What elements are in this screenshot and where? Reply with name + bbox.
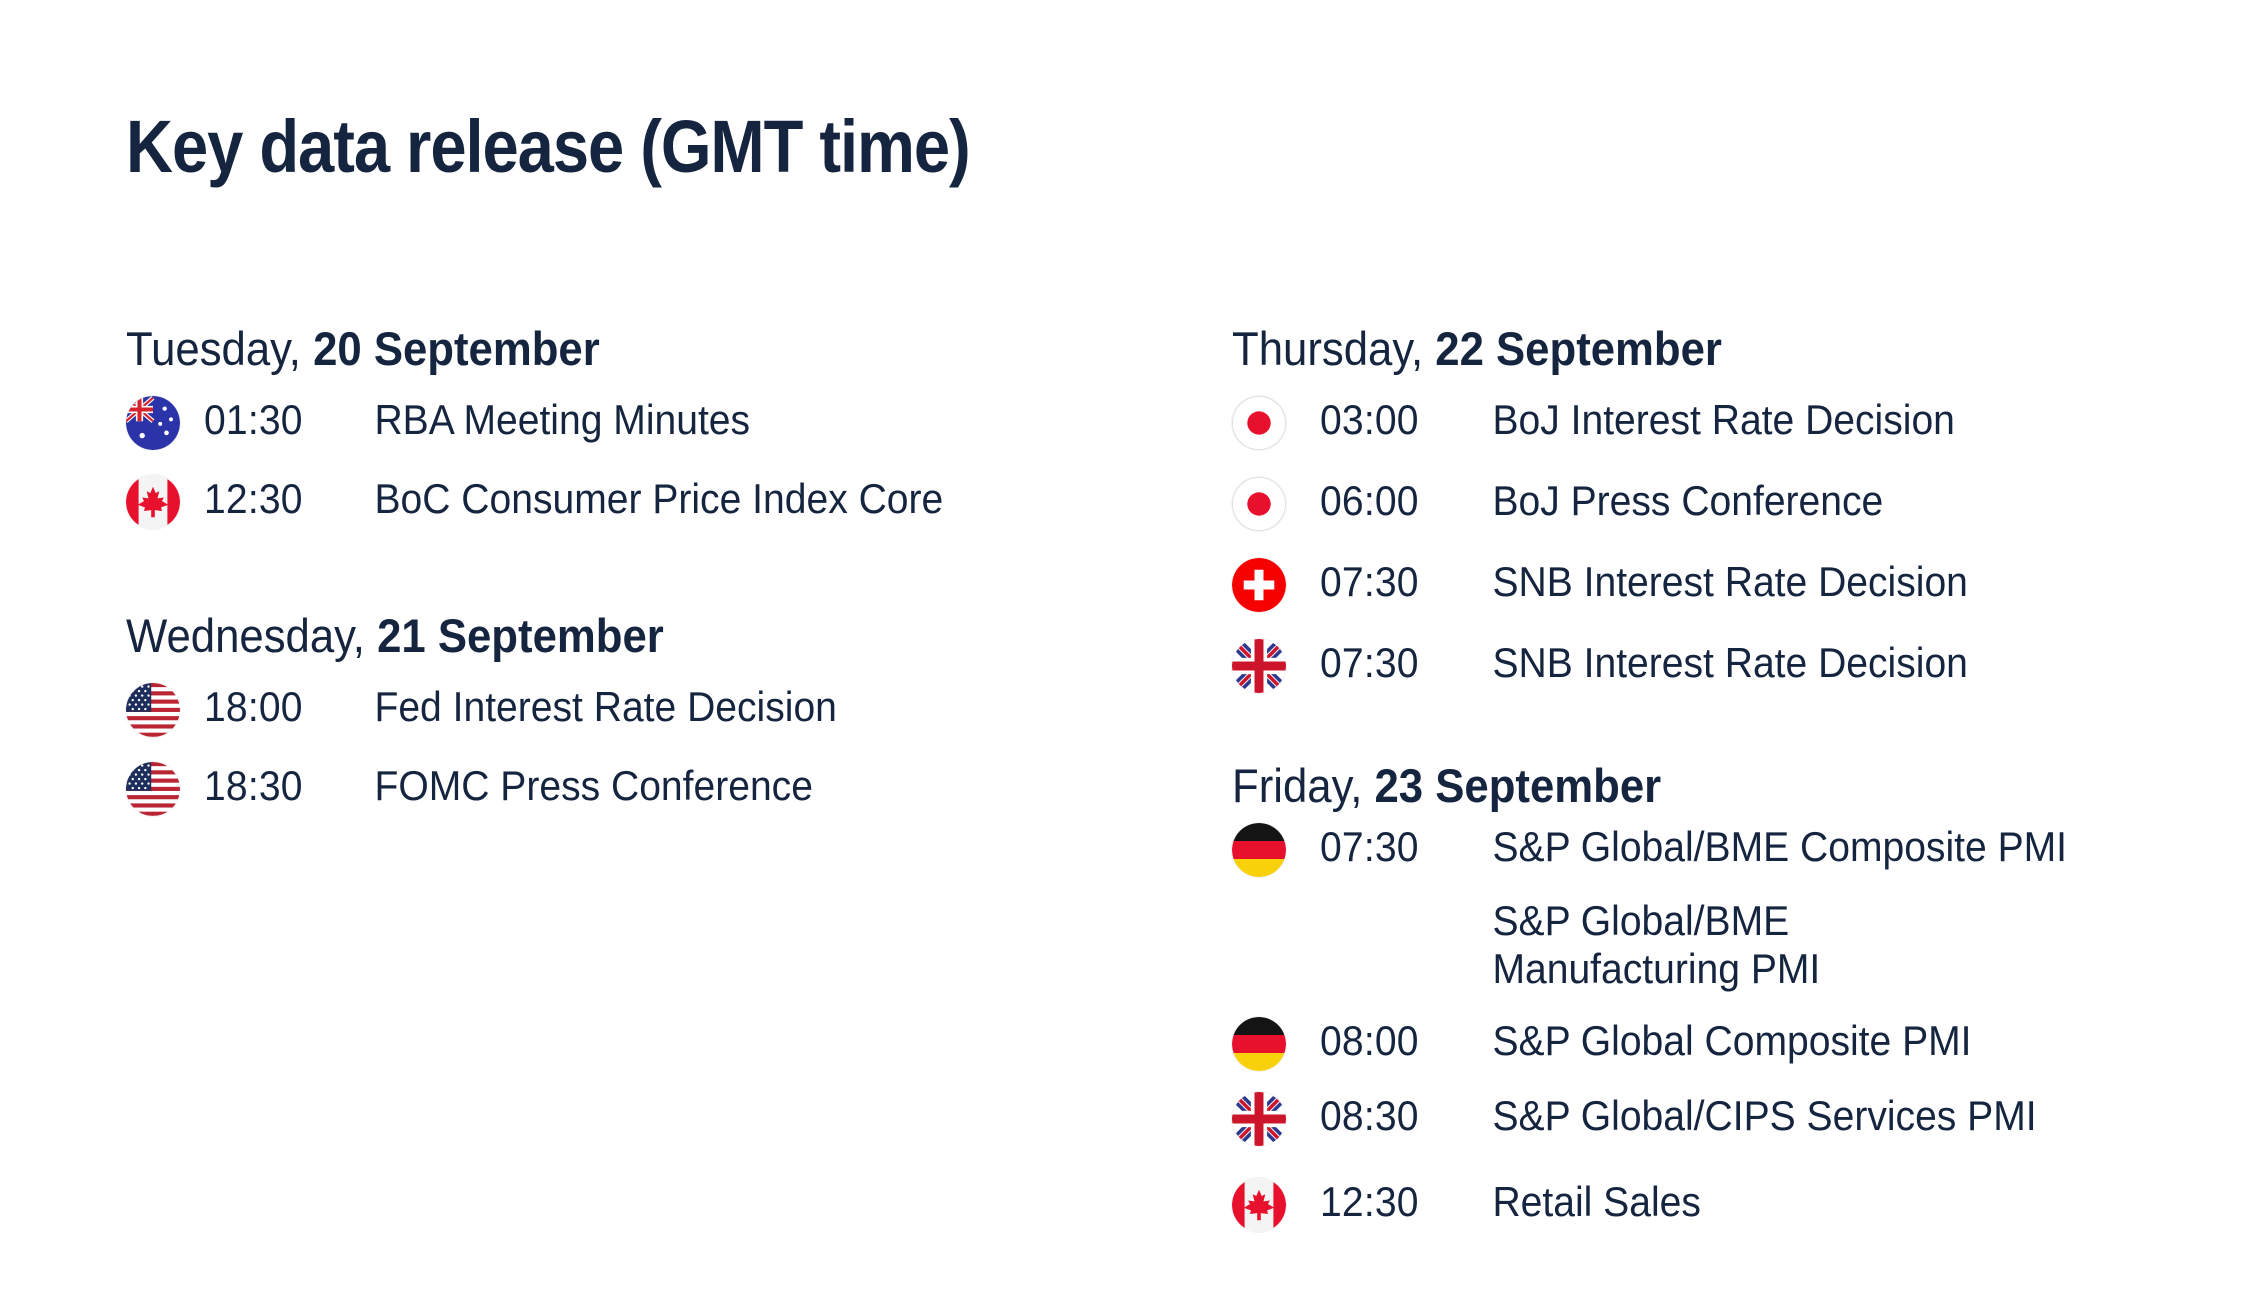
- event-name: S&P Global/CIPS Services PMI: [1472, 1088, 2179, 1140]
- event-time: 18:00: [204, 679, 344, 731]
- page-title: Key data release (GMT time): [126, 104, 970, 189]
- canada-flag-icon: [126, 475, 180, 529]
- germany-flag-icon: [1232, 823, 1286, 877]
- left-column: Tuesday, 20 September: [126, 325, 1186, 837]
- event-name: FOMC Press Conference: [354, 758, 1128, 810]
- flag-cell: [1232, 1174, 1320, 1232]
- event-row[interactable]: 06:00 BoJ Press Conference: [1232, 473, 2232, 554]
- event-name: S&P Global/BME Manufacturing PMI: [1472, 893, 2013, 994]
- uk-flag-icon: [1232, 639, 1286, 693]
- date-label: 21 September: [377, 609, 664, 662]
- event-row[interactable]: 03:00 BoJ Interest Rate Decision: [1232, 392, 2232, 473]
- date-label: 23 September: [1374, 759, 1661, 812]
- event-name: S&P Global/BME Composite PMI: [1472, 819, 2179, 871]
- day-group-tuesday: Tuesday, 20 September: [126, 325, 1186, 550]
- event-name: RBA Meeting Minutes: [354, 392, 1128, 444]
- event-name: Retail Sales: [1472, 1174, 2179, 1226]
- day-heading-friday: Friday, 23 September: [1232, 762, 2162, 809]
- australia-flag-icon: [126, 396, 180, 450]
- right-column: Thursday, 22 September 03:00 BoJ Int: [1232, 325, 2232, 1254]
- flag-cell: [1232, 635, 1320, 693]
- event-row[interactable]: 01:30 RBA Meeting Minutes: [126, 392, 1186, 471]
- event-time: 08:00: [1320, 1013, 1461, 1065]
- event-name: SNB Interest Rate Decision: [1472, 635, 2179, 687]
- event-name: BoJ Interest Rate Decision: [1472, 392, 2179, 444]
- flag-cell: [1232, 819, 1320, 877]
- event-row[interactable]: S&P Global/BME Manufacturing PMI: [1232, 893, 2232, 1013]
- event-time: 01:30: [204, 392, 344, 444]
- event-name: SNB Interest Rate Decision: [1472, 554, 2179, 606]
- event-time: [1320, 893, 1461, 897]
- event-time: 07:30: [1320, 819, 1461, 871]
- event-list-thursday: 03:00 BoJ Interest Rate Decision 06:00: [1232, 392, 2232, 716]
- spacer: [1232, 716, 2232, 762]
- event-row[interactable]: 07:30 SNB Interest Rate Decision: [1232, 635, 2232, 716]
- canada-flag-icon: [1232, 1178, 1286, 1232]
- weekday-label: Wednesday,: [126, 609, 365, 662]
- event-list-wednesday: 18:00 Fed Interest Rate Decision: [126, 679, 1186, 837]
- day-heading-tuesday: Tuesday, 20 September: [126, 325, 1112, 372]
- usa-flag-icon: [126, 683, 180, 737]
- event-name: BoC Consumer Price Index Core: [354, 471, 1128, 523]
- flag-cell: [126, 679, 204, 737]
- event-time: 07:30: [1320, 554, 1461, 606]
- japan-flag-icon: [1232, 477, 1286, 531]
- uk-flag-icon: [1232, 1092, 1286, 1146]
- weekday-label: Tuesday,: [126, 322, 301, 375]
- flag-cell: [1232, 392, 1320, 450]
- key-data-release-slide: Key data release (GMT time) Tuesday, 20 …: [0, 0, 2250, 1290]
- event-row[interactable]: 07:30 S&P Global/BME Composite PMI: [1232, 819, 2232, 893]
- event-list-friday: 07:30 S&P Global/BME Composite PMI S&P G…: [1232, 819, 2232, 1254]
- event-time: 07:30: [1320, 635, 1461, 687]
- event-time: 06:00: [1320, 473, 1461, 525]
- flag-cell: [1232, 1013, 1320, 1071]
- flag-cell: [1232, 554, 1320, 612]
- event-row[interactable]: 12:30 BoC Consumer Price Index Core: [126, 471, 1186, 550]
- day-heading-wednesday: Wednesday, 21 September: [126, 612, 1112, 659]
- event-name: Fed Interest Rate Decision: [354, 679, 1128, 731]
- flag-cell: [126, 471, 204, 529]
- event-time: 12:30: [1320, 1174, 1461, 1226]
- event-time: 08:30: [1320, 1088, 1461, 1140]
- event-row[interactable]: 08:00 S&P Global Composite PMI: [1232, 1013, 2232, 1088]
- day-group-thursday: Thursday, 22 September 03:00 BoJ Int: [1232, 325, 2232, 716]
- flag-cell: [1232, 473, 1320, 531]
- event-time: 18:30: [204, 758, 344, 810]
- event-row[interactable]: 18:30 FOMC Press Conference: [126, 758, 1186, 837]
- day-heading-thursday: Thursday, 22 September: [1232, 325, 2162, 372]
- spacer: [126, 550, 1186, 612]
- event-list-tuesday: 01:30 RBA Meeting Minutes: [126, 392, 1186, 550]
- event-row[interactable]: 07:30 SNB Interest Rate Decision: [1232, 554, 2232, 635]
- japan-flag-icon: [1232, 396, 1286, 450]
- switzerland-flag-icon: [1232, 558, 1286, 612]
- event-name: BoJ Press Conference: [1472, 473, 2179, 525]
- event-row[interactable]: 08:30 S&P Global/CIPS Services PMI: [1232, 1088, 2232, 1174]
- flag-cell: [126, 758, 204, 816]
- event-name: S&P Global Composite PMI: [1472, 1013, 2179, 1065]
- usa-flag-icon: [126, 762, 180, 816]
- day-group-wednesday: Wednesday, 21 September: [126, 612, 1186, 837]
- germany-flag-icon: [1232, 1017, 1286, 1071]
- event-row[interactable]: 12:30 Retail Sales: [1232, 1174, 2232, 1254]
- event-row[interactable]: 18:00 Fed Interest Rate Decision: [126, 679, 1186, 758]
- weekday-label: Friday,: [1232, 759, 1362, 812]
- flag-cell: [126, 392, 204, 450]
- event-time: 12:30: [204, 471, 344, 523]
- flag-cell: [1232, 1088, 1320, 1146]
- date-label: 22 September: [1435, 322, 1722, 375]
- flag-cell-empty: [1232, 893, 1320, 897]
- weekday-label: Thursday,: [1232, 322, 1423, 375]
- date-label: 20 September: [313, 322, 600, 375]
- event-time: 03:00: [1320, 392, 1461, 444]
- day-group-friday: Friday, 23 September: [1232, 762, 2232, 1254]
